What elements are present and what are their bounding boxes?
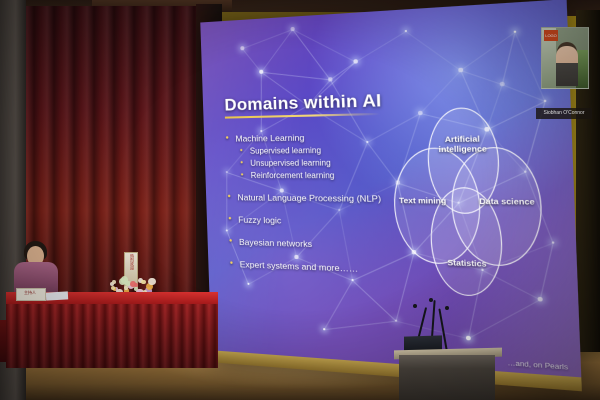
flower [141,280,146,285]
slide-bullet: Fuzzy logic [228,214,414,228]
slide-title: Domains within AI [224,90,382,115]
video-thumbnail: LOGO [541,27,589,89]
venn-label-text-mining: Text mining [389,195,456,206]
speaker-figure [556,46,578,86]
microphone-head-icon [445,306,449,310]
venn-label-data-science: Data science [473,196,542,207]
head-table-skirt [6,304,218,368]
slide-bullet: Unsupervised learning [226,158,412,168]
flower [148,278,156,286]
venn-diagram: Artificial intelligence Text mining Data… [388,106,545,302]
slide-bullet: Natural Language Processing (NLP) [227,192,413,204]
presentation-photo: Domains within AI Machine LearningSuperv… [0,0,600,400]
microphone-head-icon [429,298,433,302]
slide-bullet: Machine Learning [225,131,411,144]
podium [399,355,495,400]
flower [112,280,116,284]
slide-bullet-list: Machine LearningSupervised learningUnsup… [225,131,416,280]
microphone-head-icon [413,304,417,308]
signboard-text: 热烈欢迎 [126,254,134,270]
venn-label-artificial-intelligence: Artificial intelligence [428,134,498,155]
flower [119,278,126,285]
projection-screen: Domains within AI Machine LearningSuperv… [200,0,582,391]
documents-on-table [46,291,68,300]
slide-bullet: Supervised learning [226,145,412,156]
organization-logo: LOGO [544,30,558,41]
nameplate-text: 主持人 [16,290,44,296]
flower [130,281,136,287]
projection-screen-area: Domains within AI Machine LearningSuperv… [206,22,536,372]
flower [124,286,127,289]
slide-bullet: Reinforcement learning [227,171,413,181]
speaker-name-label: Siobhan O'Connor [536,108,592,119]
